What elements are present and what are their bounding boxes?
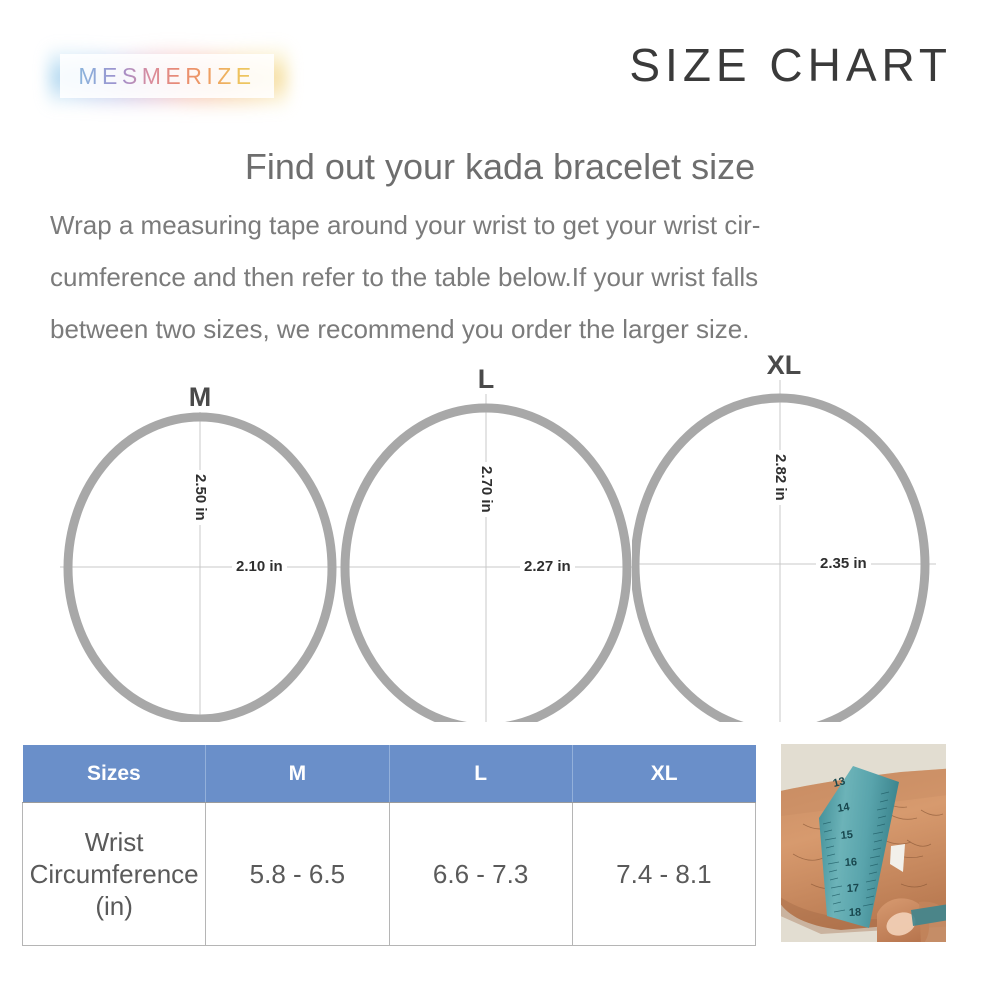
brand-name: MESMERIZE (60, 54, 274, 98)
oval-width-m: 2.10 in (232, 558, 287, 575)
table-header-sizes: Sizes (23, 745, 206, 803)
oval-diagram-m: M 2.50 in 2.10 in (60, 382, 340, 722)
size-chart-page: MESMERIZE SIZE CHART Find out your kada … (0, 0, 1000, 1000)
oval-shape-l (338, 364, 634, 722)
oval-width-l: 2.27 in (520, 558, 575, 575)
oval-width-xl: 2.35 in (816, 555, 871, 572)
oval-diagram-xl: XL 2.82 in 2.35 in (632, 350, 936, 722)
table-row: Wrist Circumference (in) 5.8 - 6.5 6.6 -… (23, 803, 756, 946)
brand-logo: MESMERIZE (48, 44, 288, 110)
oval-diagrams: M 2.50 in 2.10 in L 2.70 in 2.27 in XL (0, 340, 1000, 740)
oval-shape-m (60, 382, 340, 722)
row-label-wrist-circumference: Wrist Circumference (in) (23, 803, 206, 946)
tape-mark-17: 17 (847, 882, 860, 895)
oval-height-xl: 2.82 in (772, 450, 789, 505)
cell-wrist-xl: 7.4 - 8.1 (572, 803, 755, 946)
page-title: SIZE CHART (629, 42, 952, 88)
tape-mark-15: 15 (840, 829, 853, 842)
oval-height-l: 2.70 in (478, 462, 495, 517)
tape-mark-16: 16 (844, 856, 857, 869)
table-header-row: Sizes M L XL (23, 745, 756, 803)
cell-wrist-l: 6.6 - 7.3 (389, 803, 572, 946)
oval-height-m: 2.50 in (192, 470, 209, 525)
table-header-l: L (389, 745, 572, 803)
table-header-m: M (206, 745, 389, 803)
oval-diagram-l: L 2.70 in 2.27 in (338, 364, 634, 722)
intro-paragraph: Wrap a measuring tape around your wrist … (50, 199, 958, 355)
oval-shape-xl (632, 350, 936, 722)
tape-mark-18: 18 (849, 907, 862, 919)
wrist-measuring-photo: 13 14 15 16 17 18 (781, 744, 946, 942)
cell-wrist-m: 5.8 - 6.5 (206, 803, 389, 946)
headline: Find out your kada bracelet size (0, 146, 1000, 188)
table-header-xl: XL (572, 745, 755, 803)
size-table: Sizes M L XL Wrist Circumference (in) 5.… (22, 745, 756, 946)
